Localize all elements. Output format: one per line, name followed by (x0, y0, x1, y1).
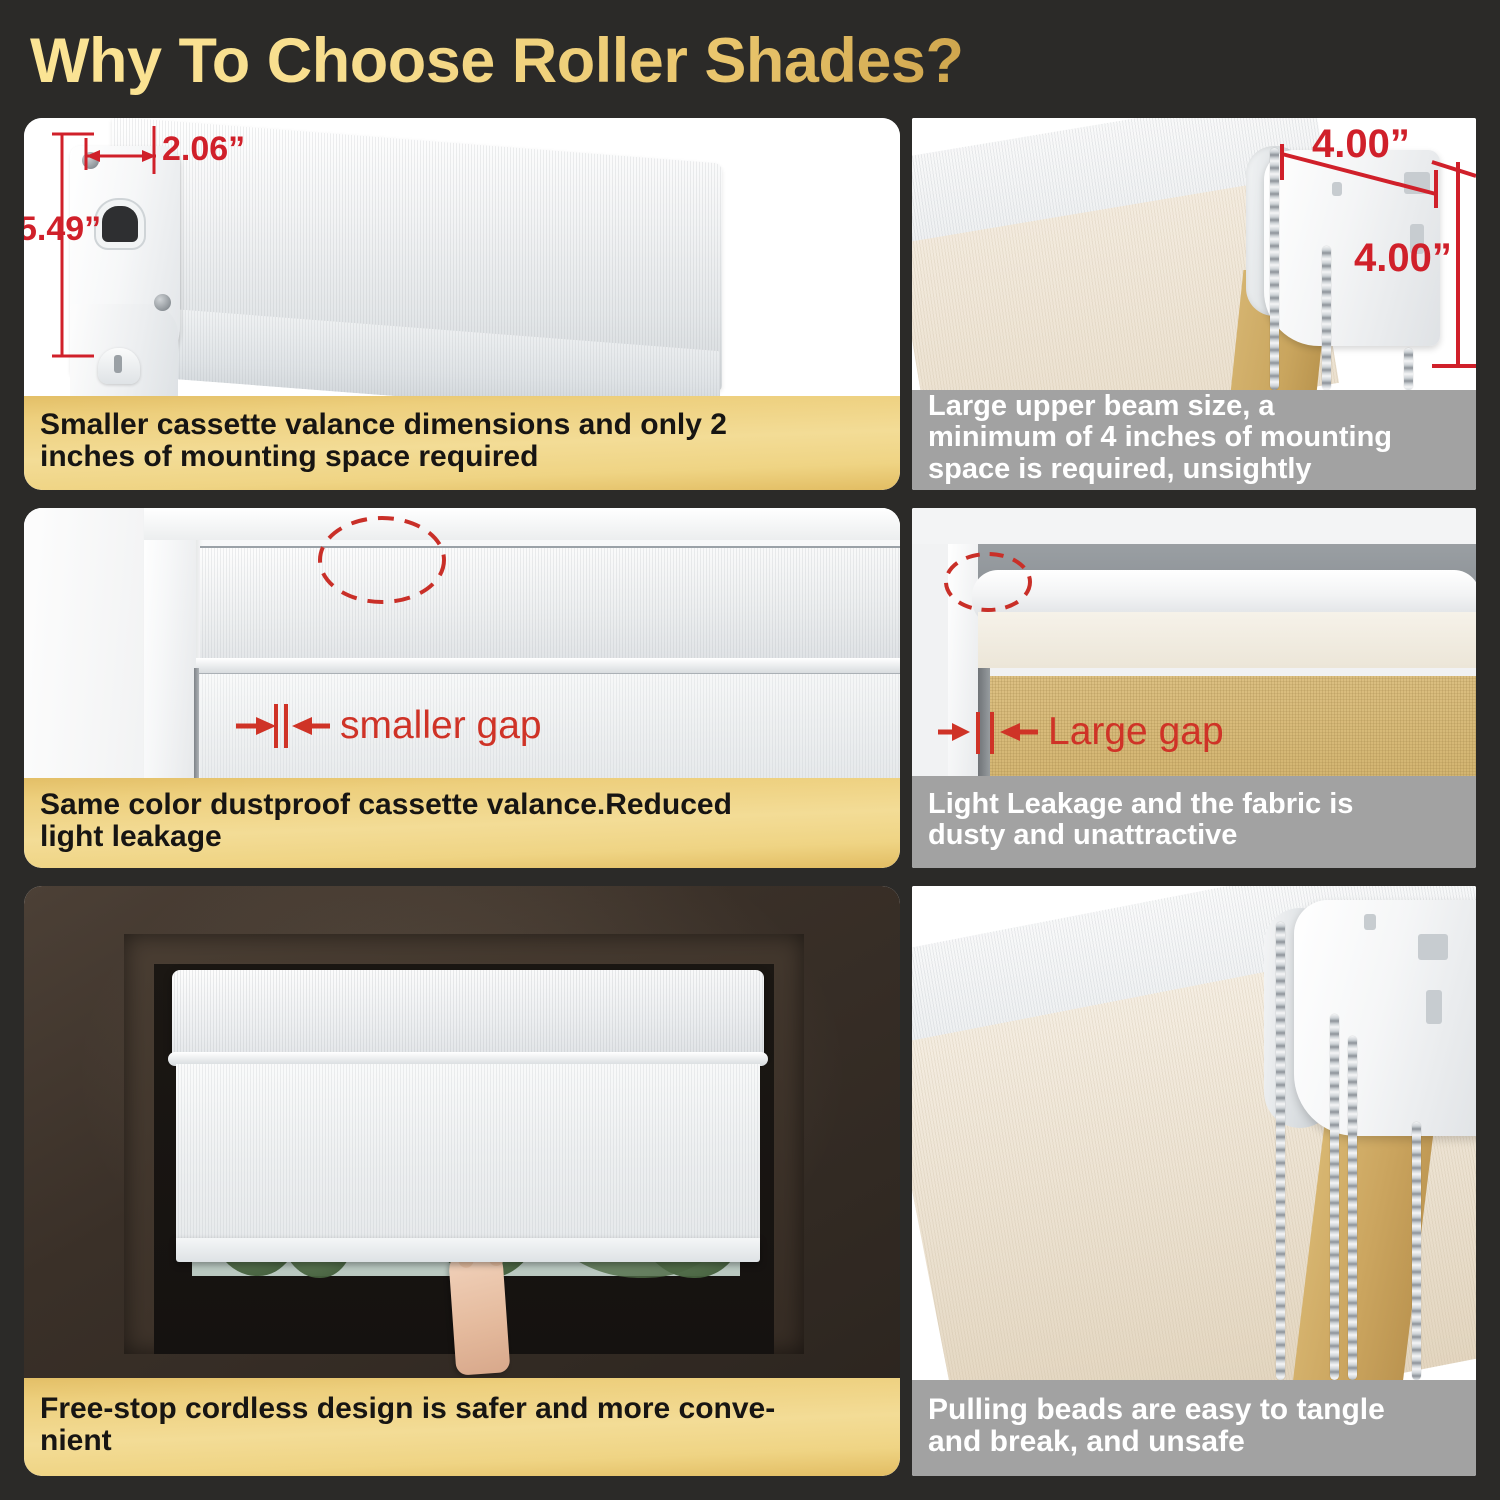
caption-text: Smaller cassette valance dimensions and … (40, 409, 727, 474)
width-dimension-label: 2.06” (162, 130, 245, 169)
caption-text: Light Leakage and the fabric is dusty an… (928, 789, 1353, 852)
width-dimension-label: 4.00” (1312, 122, 1410, 167)
panel-dustproof-valance: smaller gap Same color dustproof cassett… (24, 508, 900, 868)
caption-text: Large upper beam size, a minimum of 4 in… (928, 391, 1392, 485)
caption-text: Free-stop cordless design is safer and m… (40, 1393, 775, 1458)
dimension-lines (24, 118, 900, 396)
panel-caption-good: Free-stop cordless design is safer and m… (24, 1378, 900, 1476)
pulling-beads-photo (912, 886, 1476, 1380)
height-dimension-label: 4.00” (1354, 236, 1452, 281)
panel-caption-bad: Large upper beam size, a minimum of 4 in… (912, 390, 1476, 490)
cassette-valance-photo: 2.06” 5.49” (24, 118, 900, 396)
bracket-notch (1426, 990, 1442, 1024)
panel-caption-good: Smaller cassette valance dimensions and … (24, 396, 900, 490)
bead-chain (1330, 1014, 1339, 1380)
large-beam-photo: 4.00” 4.00” (912, 118, 1476, 390)
cordless-window-photo (24, 886, 900, 1378)
dustproof-valance-photo: smaller gap (24, 508, 900, 778)
bracket-notch (1418, 934, 1448, 960)
mounting-bracket (1294, 900, 1476, 1136)
infographic-page: Why To Choose Roller Shades? (0, 0, 1500, 1500)
light-leakage-photo: Large gap (912, 508, 1476, 776)
caption-text: Same color dustproof cassette valance.Re… (40, 789, 732, 854)
bead-chain (1276, 922, 1285, 1380)
shade-bottom-rail (176, 1238, 760, 1262)
bead-chain (1348, 1036, 1357, 1380)
panel-cassette-valance: 2.06” 5.49” Smaller cassette valance dim… (24, 118, 900, 490)
panel-pulling-beads: Pulling beads are easy to tangle and bre… (912, 886, 1476, 1476)
panel-light-leakage: Large gap Light Leakage and the fabric i… (912, 508, 1476, 868)
shade-fabric (176, 1064, 760, 1248)
bracket-notch (1364, 914, 1376, 930)
gap-label: Large gap (1048, 710, 1224, 754)
gap-label: smaller gap (340, 704, 542, 748)
cassette-valance (172, 970, 764, 1056)
panel-large-upper-beam: 4.00” 4.00” Large upper beam size, a min… (912, 118, 1476, 490)
caption-text: Pulling beads are easy to tangle and bre… (928, 1394, 1385, 1459)
panel-cordless-design: Free-stop cordless design is safer and m… (24, 886, 900, 1476)
bead-chain (1412, 1122, 1421, 1380)
page-title: Why To Choose Roller Shades? (30, 22, 1230, 100)
panel-caption-bad: Pulling beads are easy to tangle and bre… (912, 1380, 1476, 1476)
height-dimension-label: 5.49” (24, 210, 101, 249)
panel-caption-good: Same color dustproof cassette valance.Re… (24, 778, 900, 868)
panel-caption-bad: Light Leakage and the fabric is dusty an… (912, 776, 1476, 868)
